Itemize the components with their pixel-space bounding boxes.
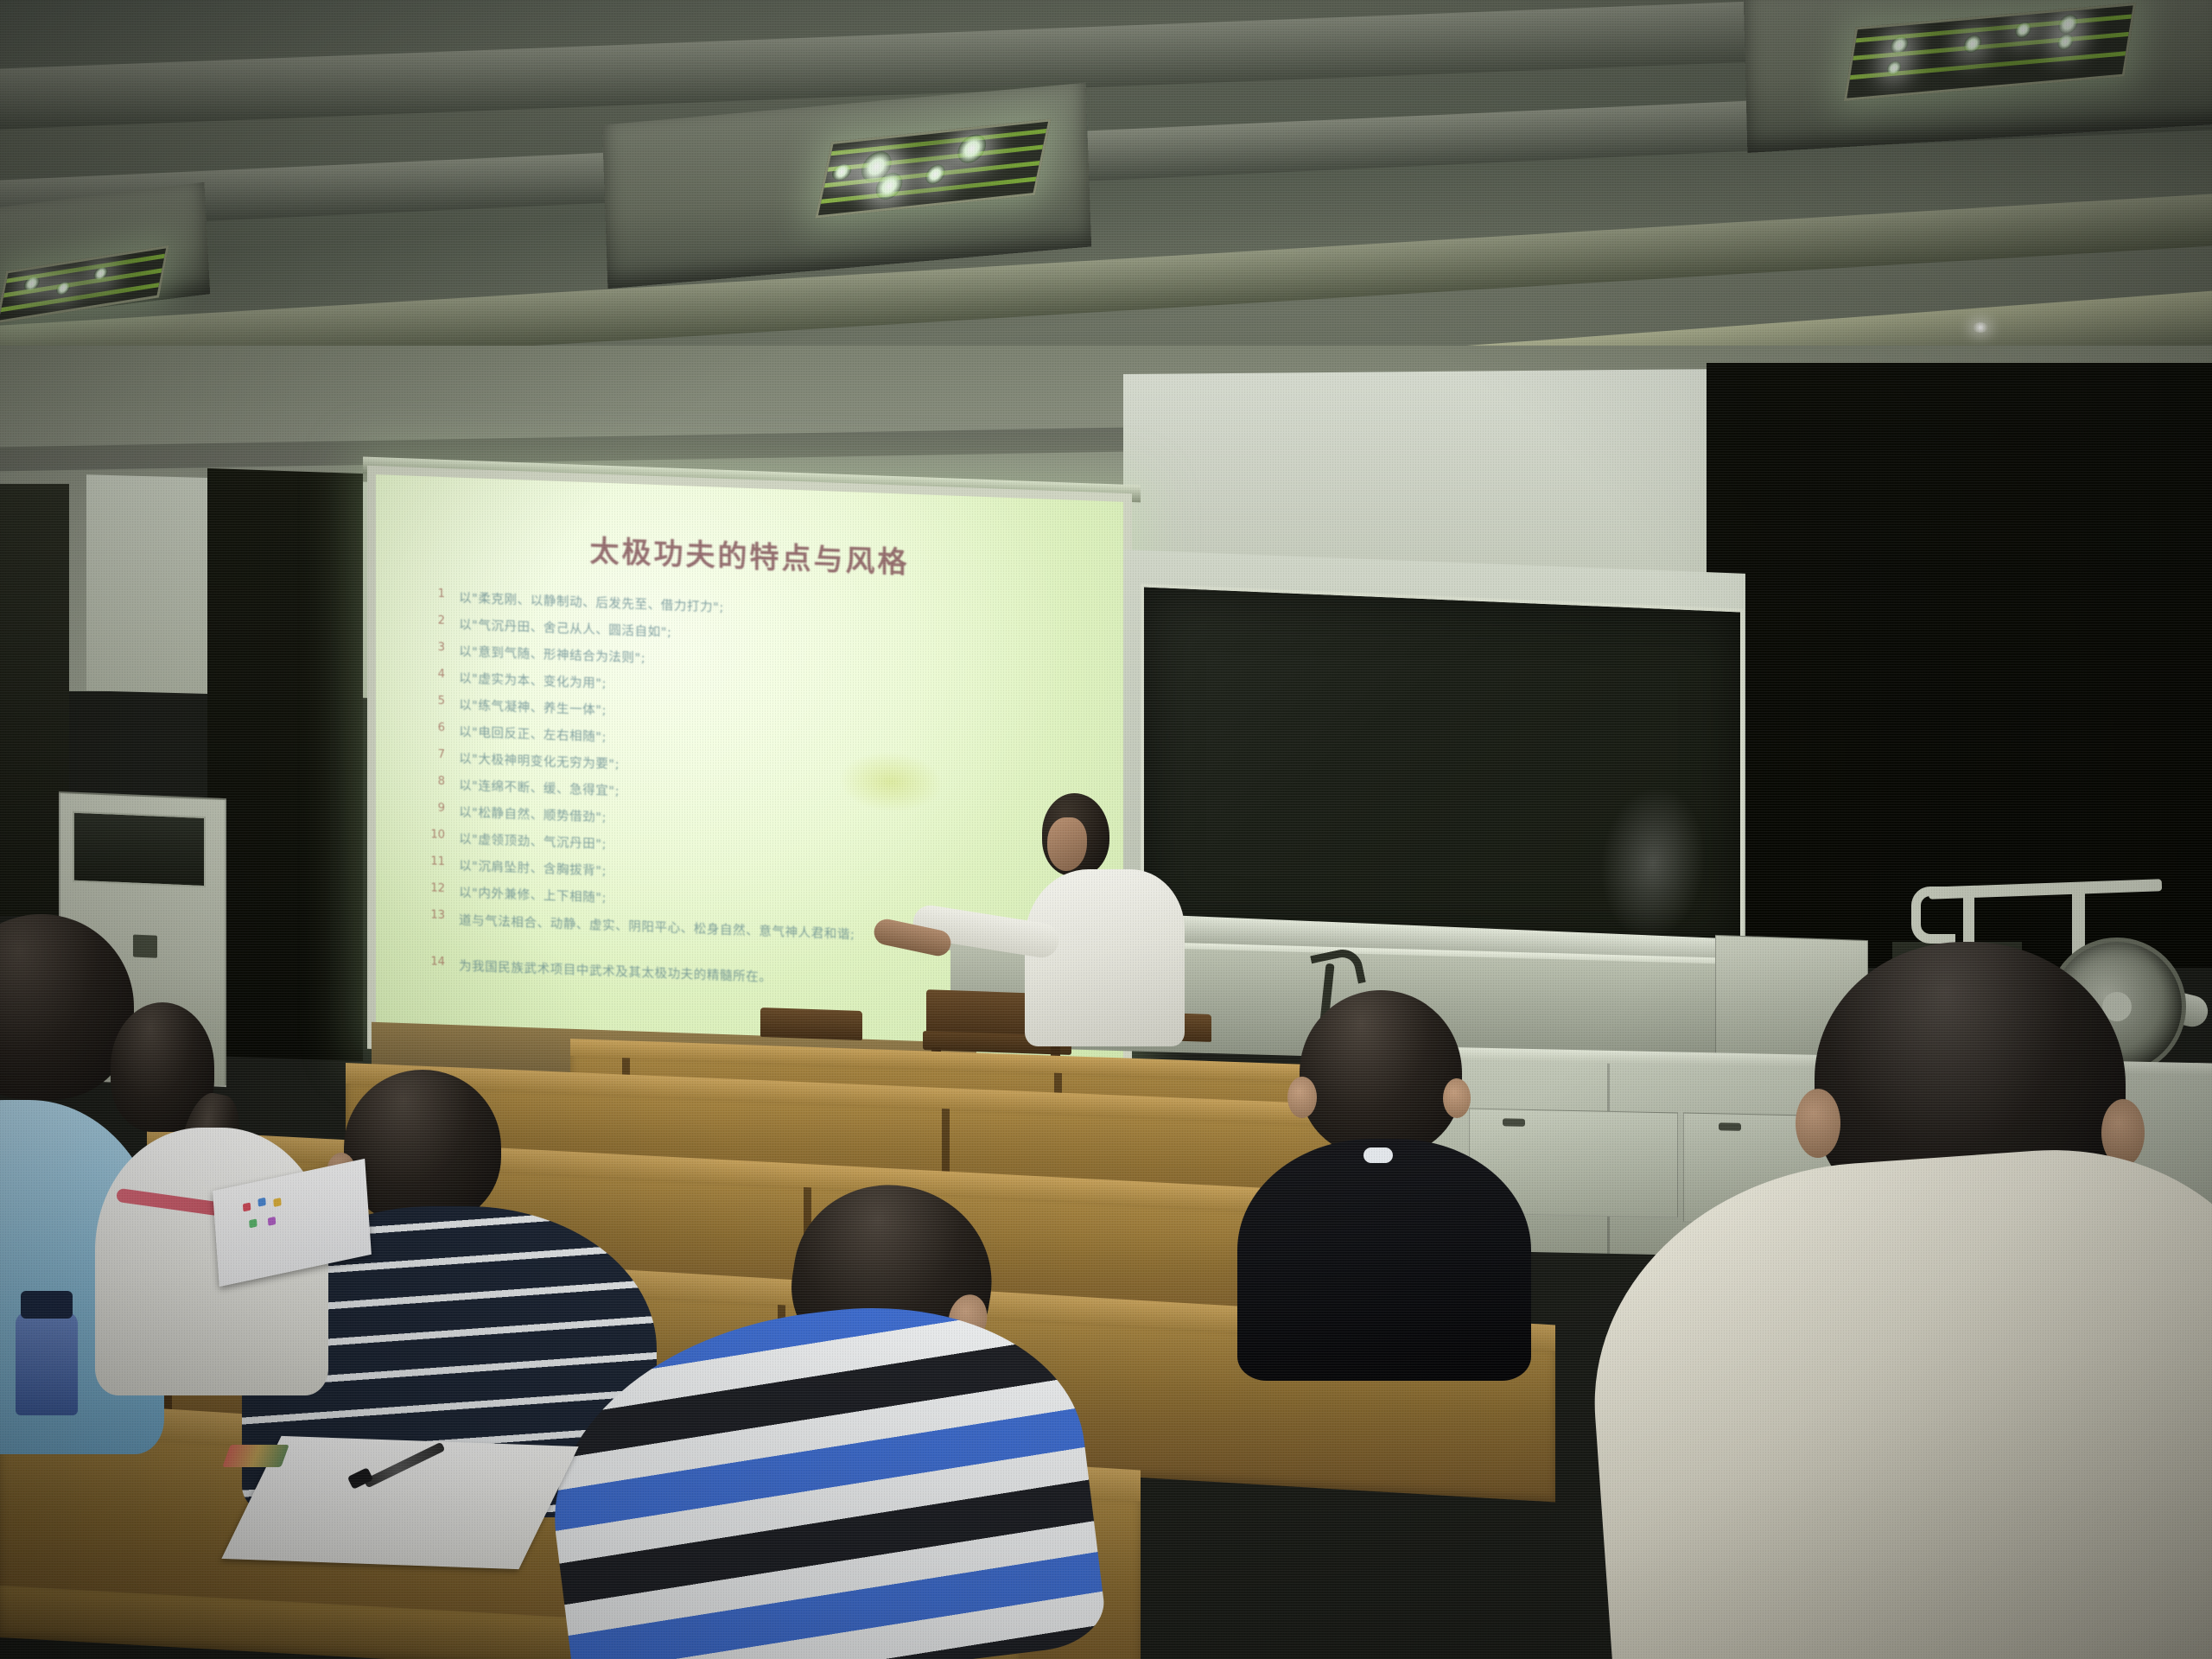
slide-item-number: 9	[400, 800, 459, 815]
blackboard-reflection	[1591, 778, 1715, 950]
slide-item-number: 3	[400, 639, 459, 654]
slide-item-number: 1	[400, 586, 459, 601]
ac-vent-grille	[73, 811, 206, 887]
slide-item-number: 4	[400, 666, 459, 681]
slide-item-text: 以"连绵不断、缓、急得宜";	[459, 776, 620, 800]
stage-curtain-right	[1707, 363, 2212, 968]
slide-item-number: 13	[400, 907, 459, 922]
presenter-face	[1047, 817, 1087, 871]
blackboard	[1141, 583, 1744, 957]
ceiling-downlight-icon	[1973, 322, 1988, 333]
slide-item-text: 以"虚实为本、变化为用";	[459, 669, 607, 692]
slide-item-number: 14	[400, 954, 459, 969]
slide-item-text: 以"柔克刚、以静制动、后发先至、借力打力";	[459, 588, 724, 616]
slide-item-text: 以"练气凝神、养生一体";	[459, 696, 607, 719]
water-bottle[interactable]	[16, 1312, 78, 1415]
slide-item-text: 以"大极神明变化无穷为要";	[459, 749, 620, 773]
presenter-torso	[1025, 869, 1185, 1046]
slide-item-text: 以"电回反正、左右相随";	[459, 722, 607, 746]
slide-item-number: 10	[400, 827, 459, 842]
slide-item-text: 以"松静自然、顺势借劲";	[459, 803, 607, 826]
student-head	[1300, 990, 1462, 1156]
student-torso	[1237, 1139, 1531, 1381]
stage-curtain-left	[207, 468, 363, 1061]
slide-item-number: 2	[400, 613, 459, 627]
student-ear	[1287, 1077, 1317, 1118]
slide-item-text: 以"沉肩坠肘、含胸拔背";	[459, 856, 607, 880]
slide-item-number: 8	[400, 773, 459, 788]
desk-small-item[interactable]	[222, 1445, 289, 1467]
slide-item-text: 以"内外兼修、上下相随";	[459, 883, 607, 906]
collar-detail	[1363, 1147, 1393, 1163]
lecture-hall-photo: 太极功夫的特点与风格 1 以"柔克刚、以静制动、后发先至、借力打力"; 2 以"…	[0, 0, 2212, 1659]
slide-item-number: 5	[400, 693, 459, 708]
slide-item-number: 11	[400, 854, 459, 868]
stage-chair	[760, 1007, 862, 1040]
slide-item-text: 以"虚领顶劲、气沉丹田";	[459, 829, 607, 853]
slide-item-number: 7	[400, 747, 459, 761]
slide-item-number: 6	[400, 720, 459, 734]
slide-item-number: 12	[400, 880, 459, 895]
bottle-cap[interactable]	[21, 1291, 73, 1319]
slide-title: 太极功夫的特点与风格	[376, 519, 1123, 589]
presenter-head	[1042, 793, 1109, 876]
student-ear	[1443, 1078, 1471, 1118]
student-ear	[1796, 1089, 1840, 1158]
ac-control-panel	[133, 935, 157, 958]
